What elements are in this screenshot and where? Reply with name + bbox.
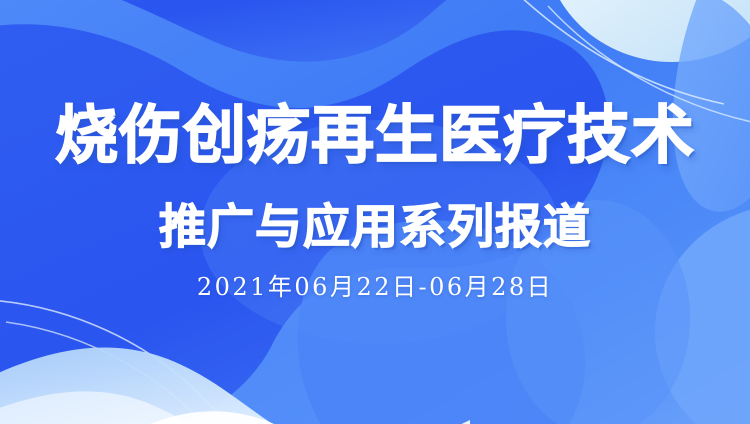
promo-banner: 烧伤创疡再生医疗技术 推广与应用系列报道 2021年06月22日-06月28日 <box>0 0 750 424</box>
background-artwork <box>0 0 750 424</box>
soft-blob-upper-mid <box>200 120 560 344</box>
